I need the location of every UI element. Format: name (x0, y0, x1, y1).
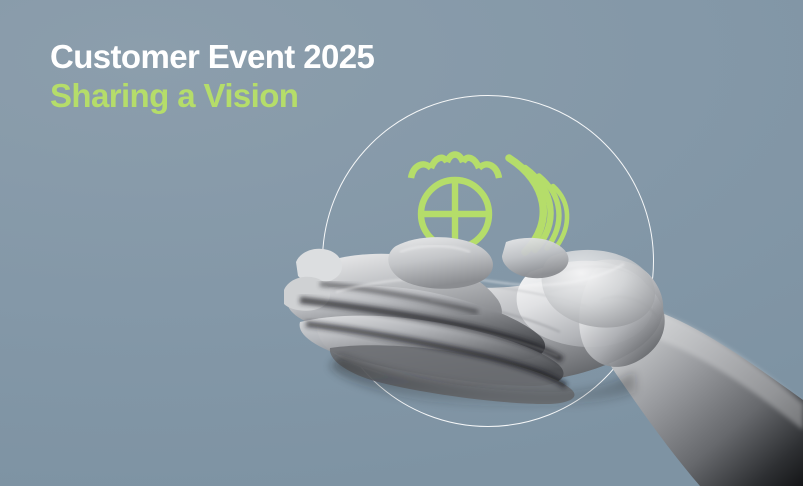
event-banner: Customer Event 2025 Sharing a Vision (0, 0, 803, 486)
crowned-globe-waves-logo (405, 148, 575, 260)
headline-block: Customer Event 2025 Sharing a Vision (50, 40, 374, 112)
crown-icon (411, 155, 499, 179)
page-title: Customer Event 2025 (50, 40, 374, 73)
page-subtitle: Sharing a Vision (50, 79, 374, 112)
white-circle-outline (322, 95, 654, 427)
wave-arcs (509, 158, 567, 252)
